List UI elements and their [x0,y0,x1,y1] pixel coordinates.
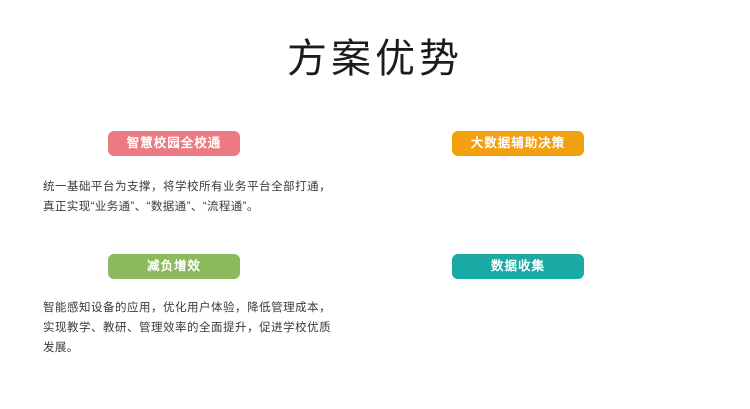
feature-badge-big-data-decision[interactable]: 大数据辅助决策 [452,131,584,156]
feature-block-big-data-decision: 大数据辅助决策 校长能直观了解学校资产情况，教研教学情况，学生发展情况，为宏观决… [375,131,750,254]
feature-block-data-collection: 数据收集 新一代物联网技术，将日常管理、教学、学习的各种数据自动汇聚起来，形成基… [375,254,750,377]
feature-description-burden-reduction: 智能感知设备的应用，优化用户体验，降低管理成本，实现教学、教研、管理效率的全面提… [43,298,331,358]
feature-badge-data-collection[interactable]: 数据收集 [452,254,584,279]
page-title: 方案优势 [0,36,750,82]
presentation-slide: 方案优势 智慧校园全校通 统一基础平台为支撑，将学校所有业务平台全部打通，真正实… [0,0,750,409]
feature-row: 智慧校园全校通 统一基础平台为支撑，将学校所有业务平台全部打通，真正实现“业务通… [0,131,750,254]
feature-block-smart-campus: 智慧校园全校通 统一基础平台为支撑，将学校所有业务平台全部打通，真正实现“业务通… [0,131,375,254]
feature-badge-burden-reduction[interactable]: 减负增效 [108,254,240,279]
feature-badge-smart-campus[interactable]: 智慧校园全校通 [108,131,240,156]
feature-row: 减负增效 智能感知设备的应用，优化用户体验，降低管理成本，实现教学、教研、管理效… [0,254,750,377]
feature-grid: 智慧校园全校通 统一基础平台为支撑，将学校所有业务平台全部打通，真正实现“业务通… [0,131,750,377]
feature-block-burden-reduction: 减负增效 智能感知设备的应用，优化用户体验，降低管理成本，实现教学、教研、管理效… [0,254,375,377]
feature-description-smart-campus: 统一基础平台为支撑，将学校所有业务平台全部打通，真正实现“业务通”、“数据通”、… [43,177,331,217]
